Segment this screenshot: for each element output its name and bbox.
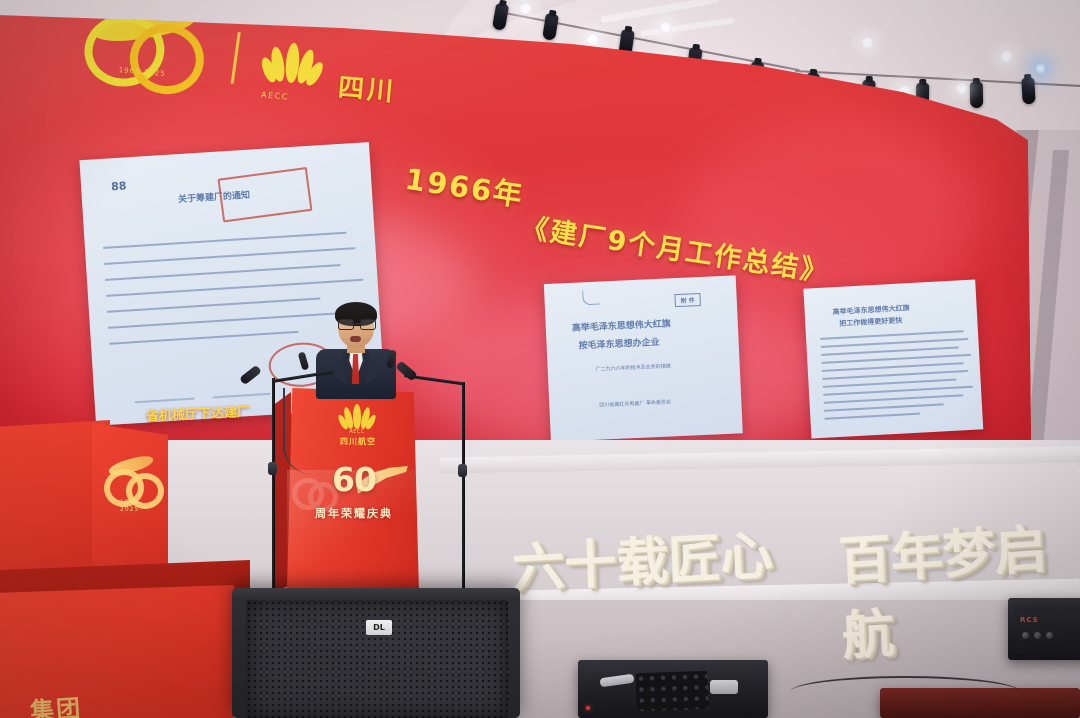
doc-text-line: [821, 338, 969, 348]
doc-text-line: [107, 297, 321, 312]
doc-text-line: [824, 403, 944, 411]
microphone-stand-pole: [462, 382, 465, 600]
mixer-pad-grid: [635, 671, 708, 711]
podium-brand-text: 四川航空: [332, 436, 384, 447]
microphone-stand-pole: [272, 378, 275, 600]
amplifier-knob: [1034, 632, 1041, 639]
audio-cable: [790, 676, 1020, 708]
doc-text-line: [820, 330, 964, 339]
document-right: 高举毛泽东思想伟大红旗 把工作做得更好更快: [803, 279, 983, 438]
amplifier-front-panel: [1014, 604, 1080, 654]
doc-text-line: [109, 331, 299, 345]
glasses-lens: [338, 319, 354, 330]
document-center: 附 件 高举毛泽东思想伟大红旗 按毛泽东思想办企业 厂二九六六年的技术及业务的措…: [544, 275, 743, 442]
doc-text-line: [824, 413, 920, 420]
mixer-power-led: [586, 706, 590, 710]
doc-text-line: [104, 247, 356, 265]
microphone-cable: [283, 388, 311, 474]
doc-heading-line1: 高举毛泽东思想伟大红旗: [572, 316, 672, 333]
ceiling-downlight-accent: [1034, 62, 1047, 75]
stage-standing-text-left: 六十载匠心: [511, 513, 773, 602]
doc-text-line: [105, 264, 341, 281]
ceiling-downlight: [955, 82, 968, 95]
doc-text-line: [823, 386, 973, 396]
stage-scene: 1965-2025 AECC 四川 1966年 《建厂9个月工作总结》 88 关…: [0, 0, 1080, 718]
podium-logo-abbr: AECC: [338, 429, 376, 435]
aecc-abbr-text: AECC: [261, 90, 289, 101]
brand-divider: [231, 32, 241, 84]
doc-subtitle: 厂二九六六年的技术及业务的措施: [596, 362, 671, 372]
podium-subtitle: 周年荣耀庆典: [306, 505, 402, 521]
microphone-clamp: [268, 462, 277, 475]
doc-text-line: [822, 362, 964, 371]
speaker-mouth: [350, 336, 361, 342]
doc-footer: 四川省属红光电器厂 革命委员会: [599, 398, 671, 408]
panel-bottom-text: 集团: [29, 688, 83, 718]
speaker-brand-text: DL: [366, 620, 392, 635]
glasses-lens: [360, 319, 376, 330]
doc-text-line: [824, 394, 964, 403]
headline-title: 《建厂9个月工作总结》: [519, 205, 832, 289]
doc-text-line: [821, 354, 971, 364]
podium-anniversary-number: 60: [332, 460, 376, 499]
amplifier-knob: [1022, 632, 1029, 639]
speaker-person: [314, 305, 398, 397]
doc-handwriting-mark: [582, 290, 600, 306]
ceiling-downlight: [586, 33, 599, 46]
speaker-brand-badge: DL: [366, 620, 392, 635]
podium-company-logo-icon: AECC: [340, 404, 374, 440]
ceiling-downlight: [519, 2, 532, 15]
doc-text-line: [823, 379, 957, 388]
doc-text-line: [821, 346, 959, 355]
headline-year: 1966年: [403, 156, 528, 215]
ceiling-downlight: [659, 21, 672, 34]
doc-text-line: [135, 398, 195, 404]
doc-red-seal: [217, 167, 312, 223]
speaker-grille: [246, 600, 508, 718]
doc-handwriting: 88: [111, 179, 127, 193]
doc-corner-label: 附 件: [674, 293, 701, 307]
doc-text-line: [822, 370, 968, 379]
doc-heading-line2: 把工作做得更好更快: [839, 315, 902, 328]
stage-light-fixture: [970, 82, 983, 108]
ceiling-downlight: [861, 36, 874, 49]
mixer-handle: [710, 680, 738, 694]
doc-text-line: [213, 393, 271, 399]
speaker-glasses-icon: [338, 319, 374, 329]
amplifier-knob: [1046, 632, 1053, 639]
microphone-clamp: [458, 464, 467, 477]
doc-heading-line2: 按毛泽东思想办企业: [578, 335, 660, 352]
amplifier-brand-text: RCS: [1020, 616, 1039, 624]
company-region-text: 四川: [337, 67, 398, 109]
anniversary-logo-tagline: 1965-2025: [120, 499, 158, 513]
doc-text-line: [103, 232, 347, 249]
stage-light-fixture: [1021, 78, 1035, 105]
glasses-bridge: [352, 323, 360, 325]
doc-text-line: [106, 279, 364, 297]
ceiling-downlight: [1000, 50, 1013, 63]
anniversary-60-logo-icon: 1965-2025: [104, 459, 158, 511]
